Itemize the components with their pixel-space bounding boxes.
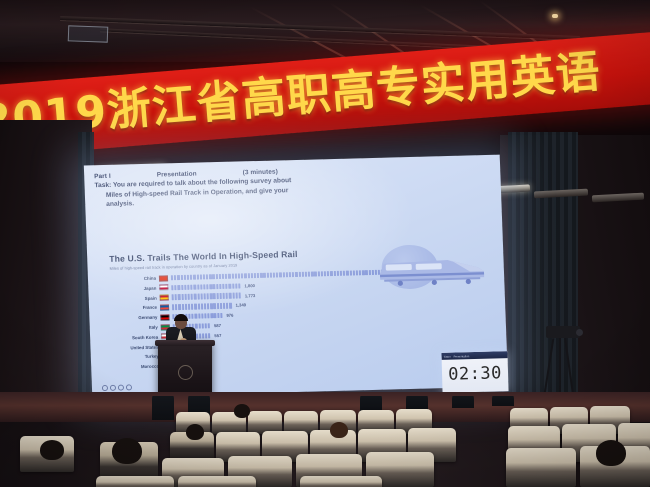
pictogram-unit <box>200 284 202 289</box>
pictogram-unit <box>223 303 225 308</box>
pictogram-unit <box>191 314 193 319</box>
pictogram-unit <box>213 294 215 299</box>
pictogram-unit <box>263 273 265 278</box>
pictogram-unit <box>210 294 212 299</box>
pictogram-unit <box>191 304 193 309</box>
pictogram-unit <box>232 293 234 298</box>
pictogram-unit <box>194 284 196 289</box>
seat <box>96 476 174 487</box>
pictogram-unit <box>195 323 197 328</box>
pictogram-unit <box>208 323 210 328</box>
pictogram-unit <box>321 271 323 276</box>
pictogram-unit <box>181 294 183 299</box>
pictogram-unit <box>220 303 222 308</box>
standing-person-1 <box>152 396 174 420</box>
pictogram-unit <box>207 313 209 318</box>
pictogram-unit <box>178 304 180 309</box>
timer-header-left: Timer <box>443 354 450 358</box>
podium-emblem <box>178 365 193 380</box>
chart-row-label: Spain <box>111 295 160 301</box>
pictogram-unit <box>257 273 259 278</box>
slide-duration-label: (3 minutes) <box>243 168 278 176</box>
pictogram-unit <box>184 294 186 299</box>
pictogram-unit <box>177 275 179 280</box>
flag-icon <box>159 285 168 291</box>
pictogram-unit <box>229 293 231 298</box>
chart-row-value: 976 <box>226 313 233 318</box>
audience-head <box>40 440 64 460</box>
pictogram-unit <box>198 314 200 319</box>
pictogram-unit <box>365 270 367 275</box>
chart-row-value: 1,800 <box>244 283 255 288</box>
pictogram-unit <box>343 271 345 276</box>
flag-icon <box>160 314 169 320</box>
pictogram-unit <box>330 271 332 276</box>
pictogram-unit <box>216 284 218 289</box>
chart-row-label: Morocco <box>113 364 162 370</box>
pictogram-unit <box>238 283 240 288</box>
pictogram-unit <box>197 294 199 299</box>
pictogram-unit <box>241 273 243 278</box>
audience-head <box>112 438 142 464</box>
pictogram-unit <box>289 272 291 277</box>
flag-icon <box>160 294 169 300</box>
pictogram-unit <box>187 284 189 289</box>
pictogram-unit <box>197 304 199 309</box>
pictogram-unit <box>216 293 218 298</box>
chart-row-bar <box>171 283 241 290</box>
chart-row-bar <box>172 303 233 310</box>
audience-head <box>596 440 626 466</box>
flag-icon <box>159 275 168 281</box>
pictogram-unit <box>203 284 205 289</box>
podium-top <box>155 340 215 346</box>
pictogram-unit <box>276 272 278 277</box>
pictogram-unit <box>207 294 209 299</box>
pictogram-unit <box>208 333 210 338</box>
pictogram-unit <box>228 274 230 279</box>
pictogram-unit <box>209 284 211 289</box>
slide-section-label: Presentation <box>157 171 197 179</box>
pictogram-unit <box>211 313 213 318</box>
pictogram-unit <box>239 293 241 298</box>
pictogram-unit <box>200 294 202 299</box>
pictogram-unit <box>203 274 205 279</box>
pictogram-unit <box>182 304 184 309</box>
pictogram-unit <box>191 294 193 299</box>
pictogram-unit <box>229 283 231 288</box>
pictogram-unit <box>298 272 300 277</box>
pictogram-unit <box>222 274 224 279</box>
pictogram-unit <box>223 293 225 298</box>
standing-person-5 <box>452 396 474 408</box>
pictogram-unit <box>200 274 202 279</box>
chart-row-value: 1,349 <box>236 303 247 308</box>
pictogram-unit <box>199 333 201 338</box>
pictogram-unit <box>356 270 358 275</box>
chart-row-label: Germany <box>111 315 160 321</box>
chart-row-value: 557 <box>214 333 221 338</box>
pictogram-unit <box>302 272 304 277</box>
pictogram-unit <box>213 284 215 289</box>
pictogram-unit <box>305 272 307 277</box>
audience-head <box>186 424 204 440</box>
pictogram-unit <box>201 313 203 318</box>
pictogram-unit <box>292 272 294 277</box>
pictogram-unit <box>215 274 217 279</box>
pictogram-unit <box>232 283 234 288</box>
pictogram-unit <box>188 314 190 319</box>
pictogram-unit <box>235 283 237 288</box>
pictogram-unit <box>210 303 212 308</box>
pictogram-unit <box>308 272 310 277</box>
pictogram-unit <box>219 284 221 289</box>
pictogram-unit <box>217 303 219 308</box>
pictogram-unit <box>346 271 348 276</box>
chart-row-label: South Korea <box>112 334 161 340</box>
pictogram-unit <box>172 304 174 309</box>
pictogram-unit <box>214 313 216 318</box>
pictogram-unit <box>193 275 195 280</box>
license-icons <box>102 384 132 391</box>
pictogram-unit <box>295 272 297 277</box>
chart-row-value: 587 <box>214 323 221 328</box>
pictogram-unit <box>251 273 253 278</box>
pictogram-unit <box>244 273 246 278</box>
pictogram-unit <box>225 274 227 279</box>
pictogram-unit <box>212 274 214 279</box>
pictogram-unit <box>217 313 219 318</box>
standing-person-4 <box>406 396 428 410</box>
pictogram-unit <box>213 303 215 308</box>
pictogram-unit <box>184 285 186 290</box>
pictogram-unit <box>266 273 268 278</box>
pictogram-unit <box>178 294 180 299</box>
pictogram-unit <box>362 270 364 275</box>
pictogram-unit <box>273 272 275 277</box>
chart-row-label: Japan <box>110 285 159 291</box>
by-circle-icon <box>110 385 116 391</box>
pictogram-unit <box>229 303 231 308</box>
chart-row-label: Turkey <box>113 354 162 360</box>
pictogram-unit <box>235 293 237 298</box>
camera-lens-icon <box>576 329 583 336</box>
pictogram-unit <box>194 304 196 309</box>
sa-circle-icon <box>126 384 132 390</box>
pictogram-unit <box>220 313 222 318</box>
pictogram-unit <box>206 284 208 289</box>
pictogram-unit <box>172 295 174 300</box>
pictogram-unit <box>194 294 196 299</box>
pictogram-unit <box>311 271 313 276</box>
pictogram-unit <box>219 274 221 279</box>
pictogram-unit <box>201 323 203 328</box>
timer-header-right: Presentation <box>454 354 470 358</box>
audience-head <box>330 422 348 438</box>
pictogram-unit <box>175 295 177 300</box>
pictogram-unit <box>201 304 203 309</box>
pictogram-unit <box>238 273 240 278</box>
standing-person-6 <box>492 396 514 406</box>
pictogram-unit <box>171 275 173 280</box>
pictogram-unit <box>185 304 187 309</box>
pictogram-unit <box>324 271 326 276</box>
pictogram-unit <box>368 270 370 275</box>
video-camera <box>546 326 580 338</box>
chart-row-label: Italy <box>112 325 161 331</box>
chart-row-bar <box>172 293 242 300</box>
presenter-hair <box>174 314 188 321</box>
auditorium-photo: 2019浙江省高职高专实用英语 Part I Presentation (3 m… <box>0 0 650 487</box>
pictogram-unit <box>178 285 180 290</box>
pictogram-unit <box>204 304 206 309</box>
pictogram-unit <box>175 304 177 309</box>
pictogram-unit <box>174 275 176 280</box>
pictogram-unit <box>188 304 190 309</box>
pictogram-unit <box>254 273 256 278</box>
pictogram-unit <box>205 323 207 328</box>
pictogram-unit <box>205 333 207 338</box>
pictogram-unit <box>282 272 284 277</box>
audience-head <box>234 404 250 418</box>
slide-part-label: Part I <box>94 173 111 180</box>
pictogram-unit <box>231 274 233 279</box>
pictogram-unit <box>184 275 186 280</box>
seat <box>178 476 256 487</box>
pictogram-unit <box>337 271 339 276</box>
timer-value: 02:30 <box>442 358 509 391</box>
pictogram-unit <box>235 273 237 278</box>
pictogram-unit <box>359 270 361 275</box>
pictogram-unit <box>333 271 335 276</box>
pictogram-unit <box>219 293 221 298</box>
pictogram-unit <box>202 333 204 338</box>
pictogram-unit <box>207 304 209 309</box>
pictogram-unit <box>279 272 281 277</box>
pictogram-unit <box>187 275 189 280</box>
pictogram-unit <box>349 270 351 275</box>
pictogram-unit <box>190 284 192 289</box>
pictogram-unit <box>340 271 342 276</box>
chart-row-value: 1,773 <box>245 293 256 298</box>
pictogram-unit <box>204 313 206 318</box>
pictogram-unit <box>190 275 192 280</box>
pictogram-unit <box>195 314 197 319</box>
cc-circle-icon <box>102 385 108 391</box>
pictogram-unit <box>174 285 176 290</box>
pictogram-unit <box>260 273 262 278</box>
pictogram-unit <box>197 284 199 289</box>
pictogram-unit <box>203 294 205 299</box>
pictogram-unit <box>226 303 228 308</box>
task-prefix: Task: <box>94 182 111 189</box>
pictogram-unit <box>327 271 329 276</box>
pictogram-unit <box>180 275 182 280</box>
pictogram-unit <box>317 271 319 276</box>
pictogram-unit <box>247 273 249 278</box>
pictogram-unit <box>353 270 355 275</box>
countdown-timer: Timer Presentation 02:30 <box>441 351 508 393</box>
chart-row-label: France <box>111 305 160 311</box>
tripod-leg-center <box>559 338 561 392</box>
pictogram-unit <box>181 285 183 290</box>
chart-row-label: United States <box>112 344 161 350</box>
pictogram-unit <box>209 274 211 279</box>
pictogram-unit <box>198 323 200 328</box>
pictogram-unit <box>225 283 227 288</box>
pictogram-unit <box>206 274 208 279</box>
train-illustration <box>373 241 491 294</box>
pictogram-unit <box>196 274 198 279</box>
ceiling-equipment-box <box>68 25 109 42</box>
nc-circle-icon <box>118 385 124 391</box>
pictogram-unit <box>286 272 288 277</box>
pictogram-unit <box>188 294 190 299</box>
pictogram-unit <box>314 271 316 276</box>
pictogram-unit <box>171 285 173 290</box>
chart-row-label: China <box>110 276 159 282</box>
flag-icon <box>160 304 169 310</box>
pictogram-unit <box>270 273 272 278</box>
audience-seating <box>0 396 650 487</box>
pictogram-unit <box>222 284 224 289</box>
seat <box>300 476 382 487</box>
seat <box>506 448 576 487</box>
pictogram-unit <box>226 293 228 298</box>
